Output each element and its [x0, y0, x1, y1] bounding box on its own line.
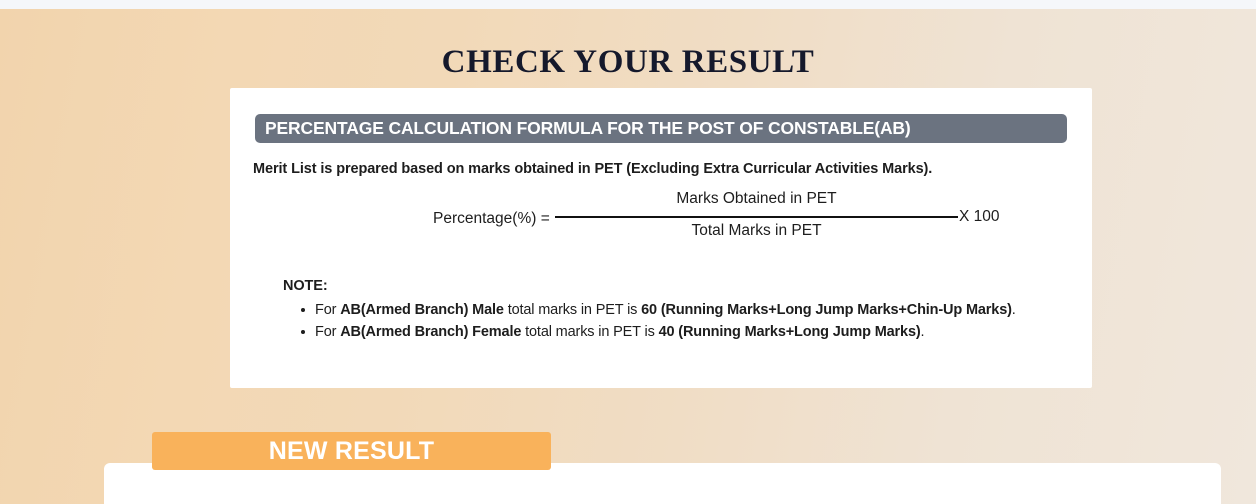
formula-multiplier: X 100: [959, 208, 1000, 226]
fraction-numerator: Marks Obtained in PET: [555, 190, 958, 208]
note-prefix: For: [315, 324, 340, 340]
merit-list-statement: Merit List is prepared based on marks ob…: [253, 161, 932, 177]
note-suffix: .: [1012, 302, 1016, 318]
formula-card-header: PERCENTAGE CALCULATION FORMULA FOR THE P…: [255, 114, 1067, 143]
note-subject: AB(Armed Branch) Female: [340, 324, 521, 340]
top-edge-strip: [0, 0, 1256, 9]
fraction-denominator: Total Marks in PET: [555, 222, 958, 240]
formula-fraction: Marks Obtained in PET Total Marks in PET: [555, 196, 958, 248]
note-list-item: For AB(Armed Branch) Male total marks in…: [283, 299, 1083, 321]
page-title: CHECK YOUR RESULT: [0, 44, 1256, 81]
tab-new-result[interactable]: NEW RESULT: [152, 432, 551, 470]
fraction-bar: [555, 216, 958, 218]
formula-card: PERCENTAGE CALCULATION FORMULA FOR THE P…: [230, 88, 1092, 388]
note-list: For AB(Armed Branch) Male total marks in…: [283, 299, 1083, 343]
note-heading: NOTE:: [283, 278, 1083, 294]
formula-left-side: Percentage(%) =: [433, 210, 550, 228]
note-suffix: .: [921, 324, 925, 340]
note-prefix: For: [315, 302, 340, 318]
note-block: NOTE: For AB(Armed Branch) Male total ma…: [283, 278, 1083, 343]
note-total-marks: 40 (Running Marks+Long Jump Marks): [659, 324, 921, 340]
note-subject: AB(Armed Branch) Male: [340, 302, 504, 318]
result-page: CHECK YOUR RESULT PERCENTAGE CALCULATION…: [0, 0, 1256, 504]
note-middle: total marks in PET is: [504, 302, 641, 318]
note-list-item: For AB(Armed Branch) Female total marks …: [283, 321, 1083, 343]
percentage-formula: Percentage(%) = Marks Obtained in PET To…: [230, 196, 1092, 250]
note-middle: total marks in PET is: [521, 324, 658, 340]
note-total-marks: 60 (Running Marks+Long Jump Marks+Chin-U…: [641, 302, 1012, 318]
